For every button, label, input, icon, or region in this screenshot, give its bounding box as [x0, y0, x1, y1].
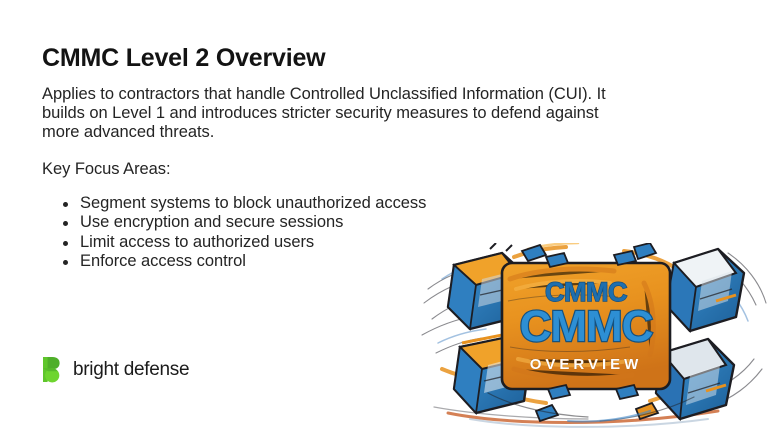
list-item-label: Enforce access control: [80, 252, 246, 270]
list-item-label: Limit access to authorized users: [80, 233, 314, 251]
list-item: Segment systems to block unauthorized ac…: [42, 194, 642, 214]
cmmc-plaque: CMMC CMMC OVERVIEW: [502, 251, 670, 399]
text-content-column: CMMC Level 2 Overview Applies to contrac…: [42, 44, 642, 272]
sketch-box-top-right: [666, 249, 744, 331]
illustration-subtitle: OVERVIEW: [530, 356, 643, 373]
page-title: CMMC Level 2 Overview: [42, 44, 642, 73]
list-item-label: Use encryption and secure sessions: [80, 213, 343, 231]
brand-logo: bright defense: [42, 356, 189, 383]
list-item-label: Segment systems to block unauthorized ac…: [80, 194, 426, 212]
illustration-headline-main: CMMC: [520, 302, 653, 351]
intro-paragraph: Applies to contractors that handle Contr…: [42, 85, 622, 143]
bullet-dot-icon: [63, 202, 68, 207]
bullet-dot-icon: [63, 221, 68, 226]
key-focus-areas-heading: Key Focus Areas:: [42, 160, 642, 179]
bullet-dot-icon: [63, 241, 68, 246]
illustration-artwork: CMMC CMMC OVERVIEW: [418, 243, 768, 434]
bullet-dot-icon: [63, 260, 68, 265]
cmmc-overview-sketch-illustration: CMMC CMMC OVERVIEW: [418, 243, 768, 434]
brand-wordmark: bright defense: [73, 360, 189, 379]
bright-defense-b-mark-icon: [42, 356, 64, 383]
list-item: Use encryption and secure sessions: [42, 213, 642, 233]
slide-canvas: CMMC Level 2 Overview Applies to contrac…: [0, 0, 768, 434]
